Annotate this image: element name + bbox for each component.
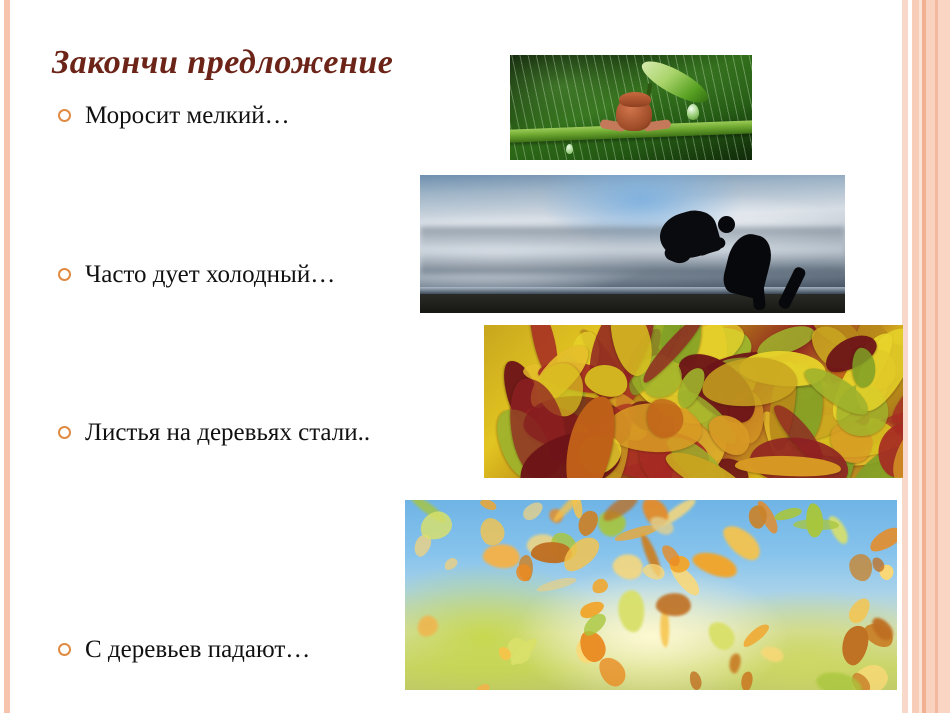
- water-drop-small: [566, 144, 573, 154]
- flying-leaf-shape: [609, 549, 646, 584]
- bullet-item-1-label: Моросит мелкий…: [85, 103, 290, 128]
- person-head: [718, 216, 735, 233]
- flying-leaf-shape: [759, 643, 785, 664]
- right-edge-stripe-band: [902, 0, 950, 713]
- flying-leaf-shape: [618, 590, 644, 633]
- bullet-item-4: С деревьев падают…: [58, 637, 310, 662]
- edge-stripe-8: [938, 0, 950, 713]
- flying-leaf-shape: [536, 576, 578, 595]
- flying-leaf-shape: [479, 500, 498, 512]
- flying-leaf-shape: [806, 504, 823, 538]
- storm-clouds: [420, 227, 845, 274]
- image-carpet-of-fallen-autumn-leaves: [484, 325, 903, 478]
- ring-bullet-icon: [58, 268, 71, 281]
- flying-leaf-shape: [746, 504, 768, 530]
- bullet-item-3: Листья на деревьях стали..: [58, 420, 370, 445]
- flying-leaf-shape: [728, 653, 743, 675]
- ring-bullet-icon: [58, 426, 71, 439]
- slide-title: Закончи предложение: [52, 44, 393, 82]
- image-person-with-umbrella-in-wind: [420, 175, 845, 313]
- water-drop-large: [687, 104, 699, 120]
- edge-stripe-3: [912, 0, 919, 713]
- bullet-item-4-label: С деревьев падают…: [85, 637, 310, 662]
- flying-leaf-shape: [520, 500, 545, 523]
- flying-leaf-shape: [849, 554, 873, 582]
- flying-leaf-shape: [690, 546, 741, 582]
- flying-leaf-shape: [826, 513, 851, 546]
- bullet-item-1: Моросит мелкий…: [58, 103, 290, 128]
- flying-leaf-shape: [846, 595, 873, 626]
- bullet-item-3-label: Листья на деревьях стали..: [85, 420, 370, 445]
- bullet-item-2-label: Часто дует холодный…: [85, 262, 335, 287]
- flying-leaf-shape: [705, 617, 739, 654]
- flying-leaf-shape: [442, 557, 459, 573]
- flying-leaf-shape: [474, 682, 491, 690]
- left-edge-stripe: [4, 0, 10, 713]
- image-leaves-flying-in-blue-sky: [405, 500, 897, 690]
- flying-leaf-shape: [773, 505, 803, 521]
- flying-leaf-shape: [688, 670, 702, 690]
- edge-stripe-6: [926, 0, 935, 713]
- flying-leaf-shape: [641, 561, 667, 583]
- flying-leaf-shape: [590, 577, 610, 595]
- frog-head: [619, 92, 651, 107]
- ring-bullet-icon: [58, 109, 71, 122]
- horizon-line: [420, 287, 845, 294]
- image-frog-with-leaf-umbrella-in-rain: [510, 55, 752, 160]
- bullet-item-2: Часто дует холодный…: [58, 262, 335, 287]
- flying-leaf-shape: [740, 670, 755, 690]
- flying-leaf-shape: [414, 612, 442, 640]
- flying-leaf-shape: [481, 541, 521, 570]
- slide-canvas: Закончи предложение Моросит мелкий… Част…: [0, 0, 950, 713]
- flying-leaf-shape: [866, 524, 897, 556]
- ring-bullet-icon: [58, 643, 71, 656]
